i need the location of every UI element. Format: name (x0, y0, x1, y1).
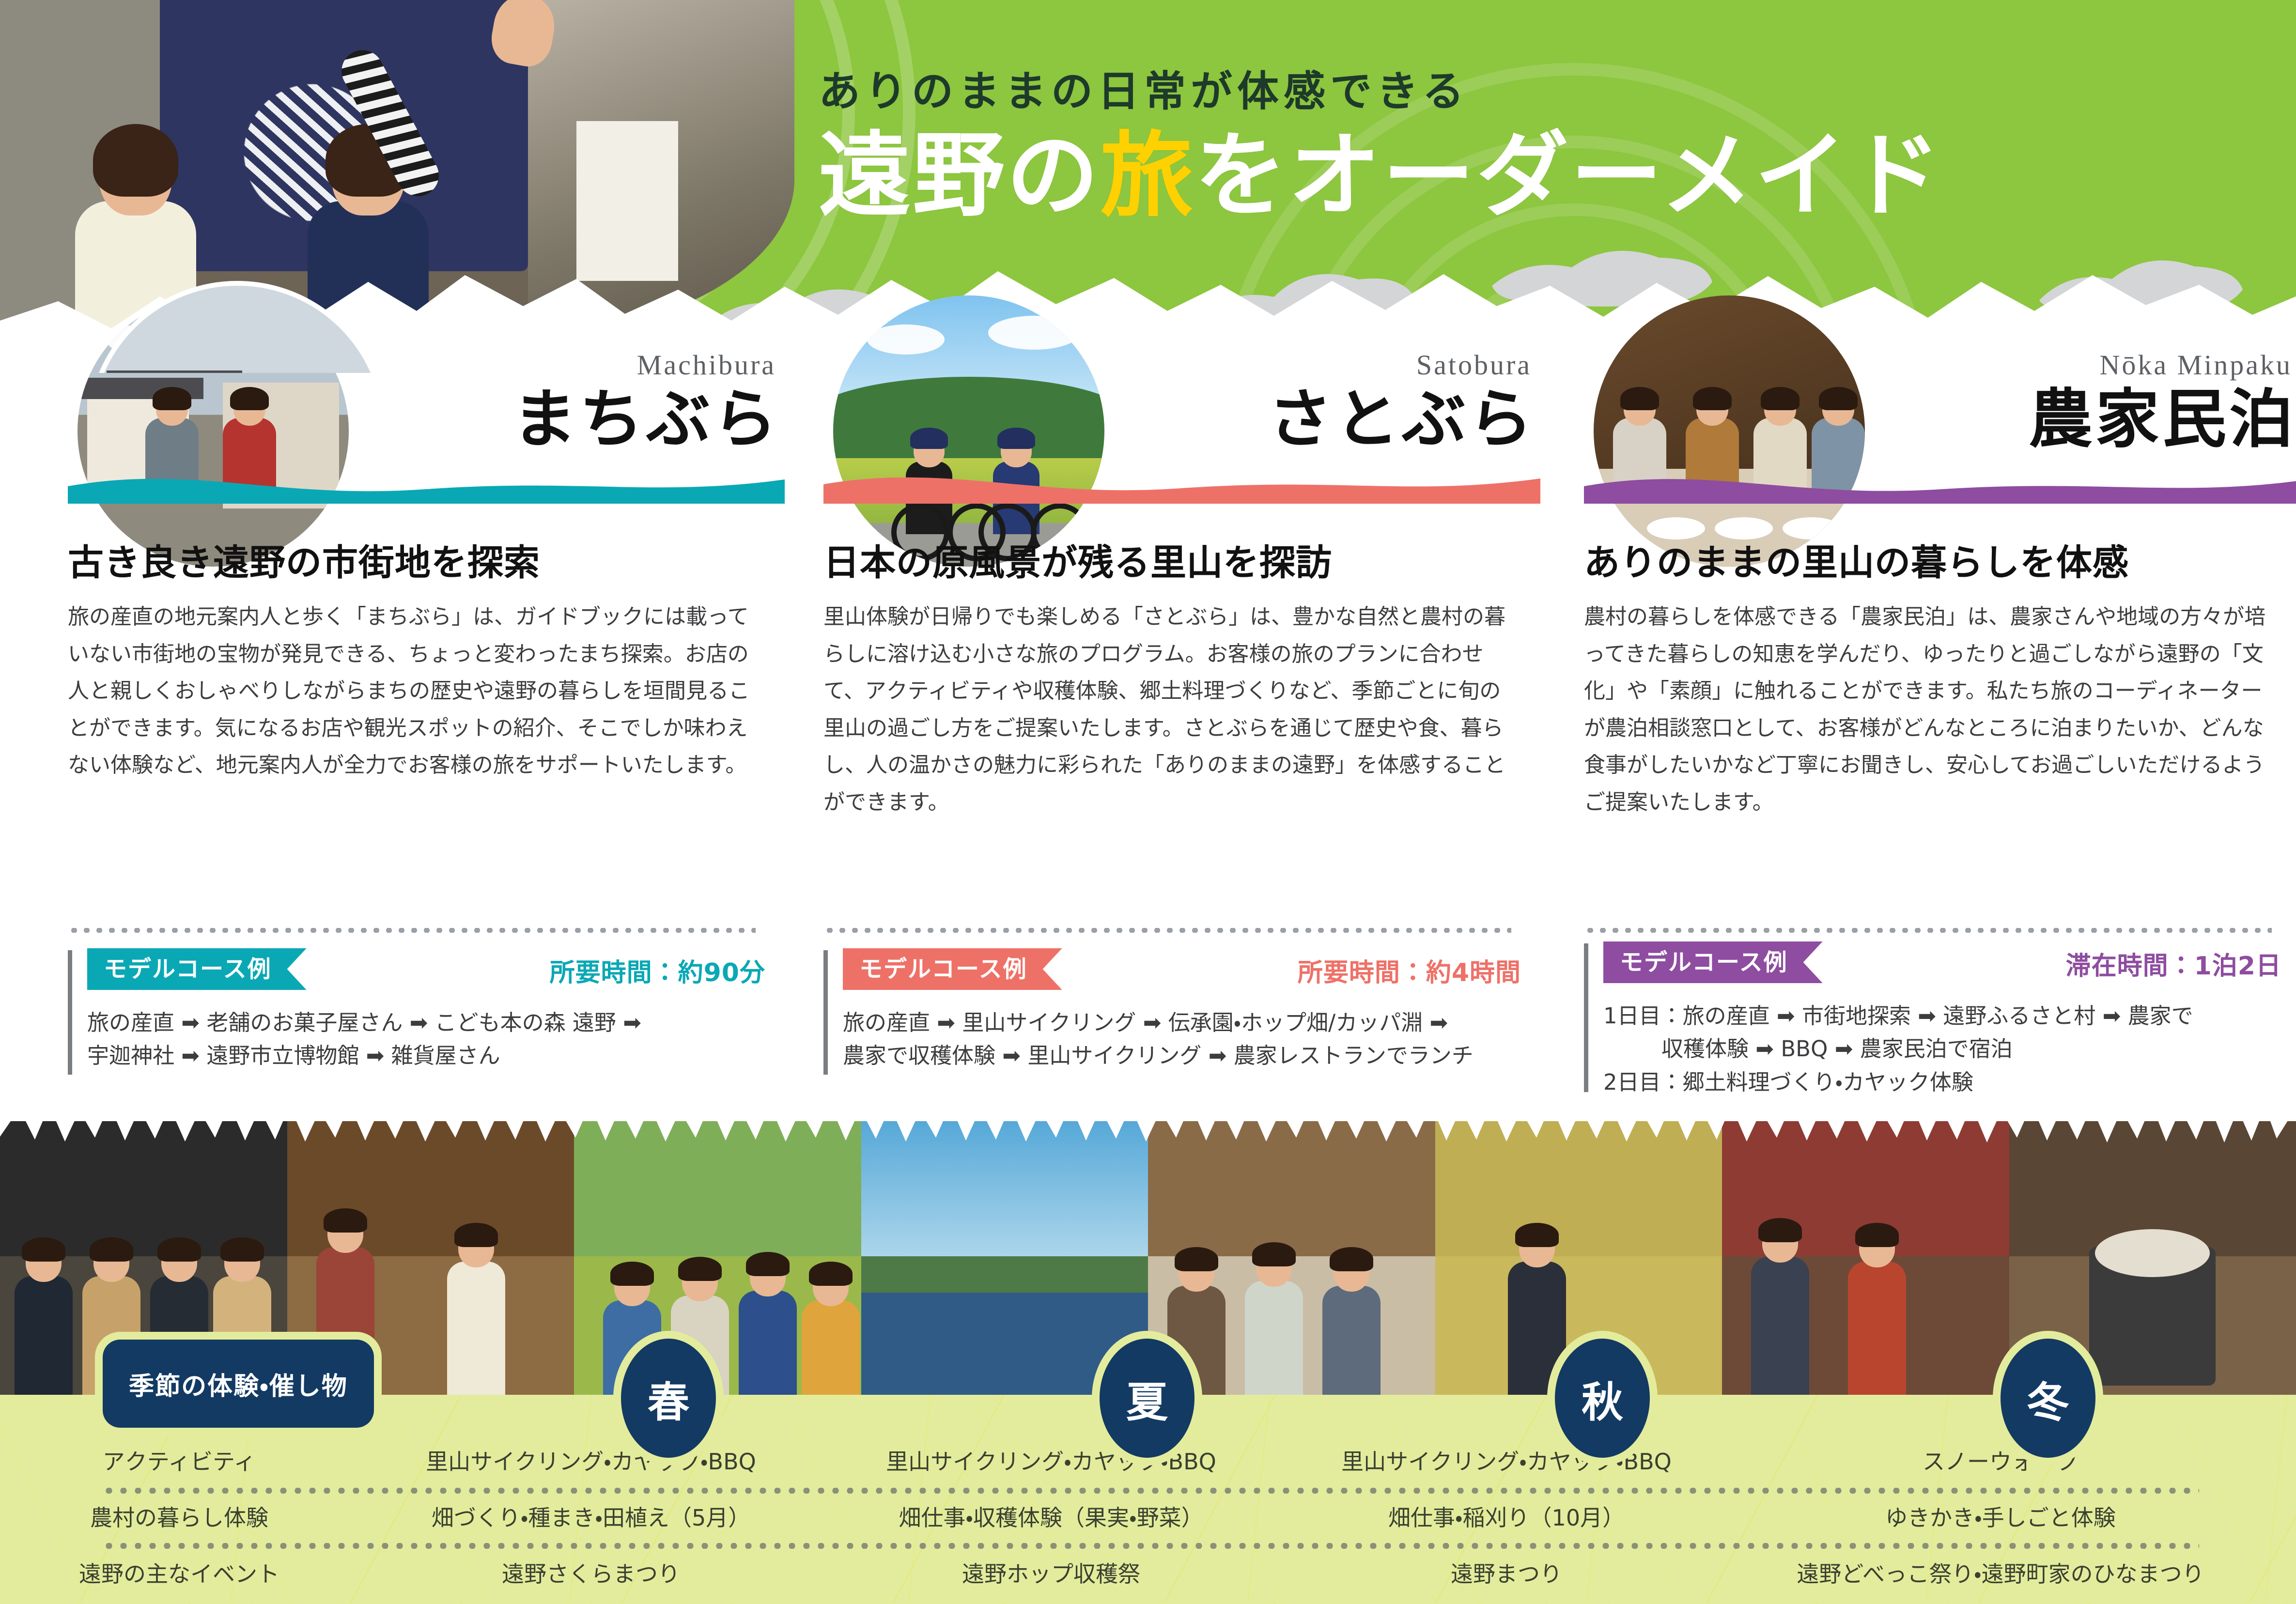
table-row-village-life: 農村の暮らし体験 畑づくり・種まき・田植え（5月） 畑仕事・収穫体験（果実・野菜… (0, 1500, 2296, 1532)
course-lines-satobura: 旅の産直 ➡ 里山サイクリング ➡ 伝承園・ホップ畑/カッパ淵 ➡ 農家で収穫体… (843, 1006, 1526, 1073)
course-line: 1日目：旅の産直 ➡ 市街地探索 ➡ 遠野ふるさと村 ➡ 農家で (1603, 1000, 2286, 1033)
column-romaji-machibura: Machibura (637, 349, 776, 381)
course-line: 旅の産直 ➡ 老舗のお菓子屋さん ➡ こども本の森 遠野 ➡ (87, 1006, 770, 1039)
cell-winter: スノーウォーク (1734, 1444, 2267, 1476)
course-line: 農家で収穫体験 ➡ 里山サイクリング ➡ 農家レストランでランチ (843, 1039, 1526, 1072)
column-romaji-noka-minpaku: Nōka Minpaku (2099, 349, 2292, 381)
brochure-page: ありのままの日常が体感できる 遠野の旅をオーダーメイド (0, 0, 2296, 1604)
wave-underline-noka-minpaku (1584, 470, 2296, 504)
row-label: 遠野の主なイベント (0, 1557, 358, 1589)
course-block-satobura: モデルコース例 所要時間：約4時間 旅の産直 ➡ 里山サイクリング ➡ 伝承園・… (823, 948, 1526, 1073)
course-block-noka-minpaku: モデルコース例 滞在時間：1泊2日 1日目：旅の産直 ➡ 市街地探索 ➡ 遠野ふ… (1584, 941, 2286, 1099)
table-separator-2 (102, 1543, 2199, 1549)
column-heading-satobura: 日本の原風景が残る里山を探訪 (823, 542, 1531, 584)
hero-title: 遠野の旅をオーダーメイド (819, 130, 1942, 222)
season-badge-winter: 冬 (2001, 1339, 2095, 1458)
column-heading-machibura: 古き良き遠野の市街地を探索 (68, 542, 775, 584)
duration-noka-minpaku: 滞在時間：1泊2日 (2066, 945, 2281, 982)
divider-dots-machibura (68, 928, 756, 933)
strip-photo-market (1722, 1121, 2009, 1421)
cell-autumn: 畑仕事・稲刈り（10月） (1279, 1500, 1734, 1532)
cell-autumn: 里山サイクリング・カヤック・BBQ (1279, 1444, 1734, 1476)
wave-underline-satobura (823, 470, 1540, 504)
course-block-machibura: モデルコース例 所要時間：約90分 旅の産直 ➡ 老舗のお菓子屋さん ➡ こども… (68, 948, 770, 1073)
course-line: 宇迦神社 ➡ 遠野市立博物館 ➡ 雑貨屋さん (87, 1039, 770, 1072)
column-satobura: Satobura さとぶら 日本の原風景が残る里山を探訪 里山体験が日帰りでも楽… (823, 310, 1540, 1104)
cell-summer: 畑仕事・収穫体験（果実・野菜） (823, 1500, 1279, 1532)
program-columns: Machibura まちぶら 古き良き遠野の市街地を探索 旅の産直の地元案内人と… (0, 310, 2296, 1104)
column-body-machibura: 旅の産直の地元案内人と歩く「まちぶら」は、ガイドブックには載っていない市街地の宝… (68, 599, 756, 784)
ribbon-label-satobura: モデルコース例 (843, 948, 1062, 990)
cell-autumn: 遠野まつり (1279, 1557, 1734, 1589)
course-lines-noka-minpaku: 1日目：旅の産直 ➡ 市街地探索 ➡ 遠野ふるさと村 ➡ 農家で 収穫体験 ➡ … (1603, 1000, 2286, 1099)
column-heading-noka-minpaku: ありのままの里山の暮らしを体感 (1584, 542, 2291, 584)
season-badge-spring: 春 (621, 1339, 716, 1458)
wave-underline-machibura (68, 470, 785, 504)
course-line: 収穫体験 ➡ BBQ ➡ 農家民泊で宿泊 (1603, 1033, 2286, 1065)
column-title-noka-minpaku: 農家民泊 (2029, 387, 2296, 451)
cell-summer: 遠野ホップ収穫祭 (823, 1557, 1279, 1589)
cell-winter: 遠野どべっこ祭り・遠野町家のひなまつり (1734, 1557, 2267, 1589)
course-lines-machibura: 旅の産直 ➡ 老舗のお菓子屋さん ➡ こども本の森 遠野 ➡ 宇迦神社 ➡ 遠野… (87, 1006, 770, 1073)
season-table: 季節の体験・催し物 春 夏 秋 冬 アクティビティ 里山サイクリング・カヤック・… (0, 1395, 2296, 1604)
duration-machibura: 所要時間：約90分 (550, 952, 765, 988)
cell-winter: ゆきかき・手しごと体験 (1734, 1500, 2267, 1532)
strip-photo-cycling (574, 1121, 861, 1421)
ribbon-label-noka-minpaku: モデルコース例 (1603, 941, 1823, 983)
duration-satobura: 所要時間：約4時間 (1298, 952, 1521, 988)
course-line: 旅の産直 ➡ 里山サイクリング ➡ 伝承園・ホップ畑/カッパ淵 ➡ (843, 1006, 1526, 1039)
column-romaji-satobura: Satobura (1416, 349, 1532, 381)
ribbon-label-machibura: モデルコース例 (87, 948, 307, 990)
cell-spring: 里山サイクリング・カヤック・BBQ (358, 1444, 823, 1476)
column-noka-minpaku: Nōka Minpaku 農家民泊 ありのままの里山の暮らしを体感 農村の暮らし… (1584, 310, 2296, 1104)
column-photo-satobura (833, 295, 1104, 567)
season-table-badge: 季節の体験・催し物 (103, 1340, 374, 1428)
torn-edge-decoration (0, 1092, 2296, 1155)
column-title-machibura: まちぶら (512, 387, 780, 451)
cell-spring: 畑づくり・種まき・田植え（5月） (358, 1500, 823, 1532)
column-photo-noka-minpaku (1594, 295, 1865, 567)
table-row-events: 遠野の主なイベント 遠野さくらまつり 遠野ホップ収穫祭 遠野まつり 遠野どべっこ… (0, 1557, 2296, 1589)
column-body-noka-minpaku: 農村の暮らしを体感できる「農家民泊」は、農家さんや地域の方々が培ってきた暮らしの… (1584, 599, 2277, 821)
cell-spring: 遠野さくらまつり (358, 1557, 823, 1589)
column-body-satobura: 里山体験が日帰りでも楽しめる「さとぶら」は、豊かな自然と農村の暮らしに溶け込む小… (823, 599, 1511, 821)
divider-dots-noka-minpaku (1584, 928, 2272, 933)
season-badge-summer: 夏 (1100, 1339, 1195, 1458)
row-label: アクティビティ (0, 1444, 358, 1476)
cell-summer: 里山サイクリング・カヤック・BBQ (823, 1444, 1279, 1476)
column-machibura: Machibura まちぶら 古き良き遠野の市街地を探索 旅の産直の地元案内人と… (68, 310, 785, 1104)
row-label: 農村の暮らし体験 (0, 1500, 358, 1532)
hero-subtitle: ありのままの日常が体感できる (819, 57, 1469, 118)
season-badge-autumn: 秋 (1555, 1339, 1650, 1458)
column-title-satobura: さとぶら (1268, 387, 1536, 451)
table-separator-1 (102, 1488, 2199, 1494)
divider-dots-satobura (823, 928, 1511, 933)
